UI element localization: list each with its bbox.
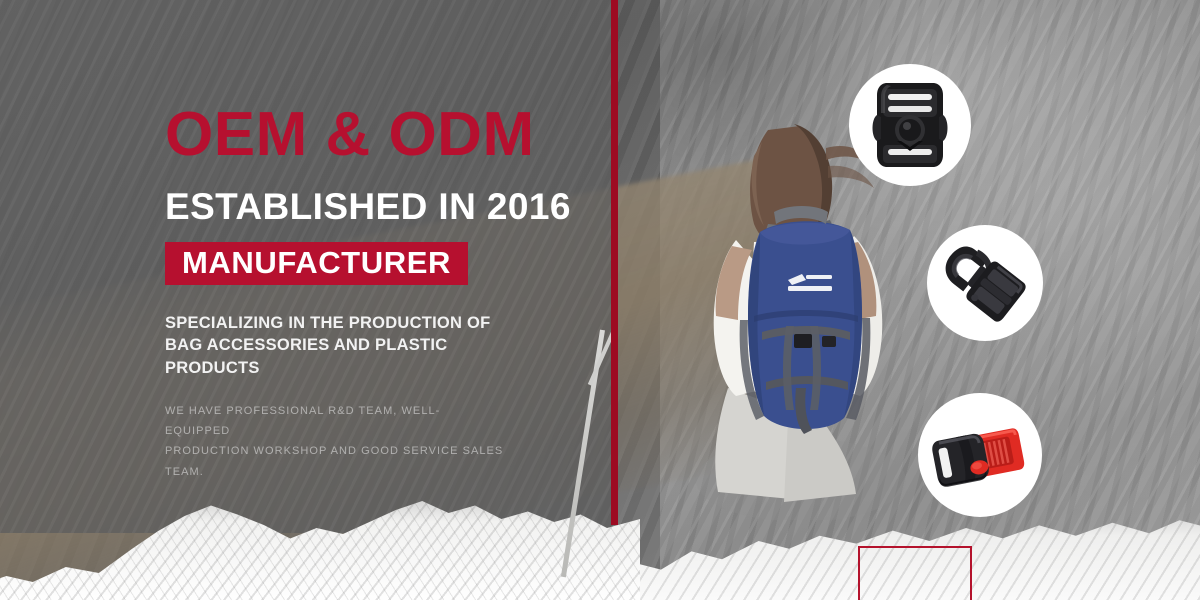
fineprint-line-2: PRODUCTION WORKSHOP AND GOOD SERVICE SAL…: [165, 445, 503, 477]
product-circle-side-release-buckle-black[interactable]: [849, 64, 971, 186]
side-release-buckle-red-black-icon: [930, 419, 1030, 491]
product-circle-snap-hook-clip-black[interactable]: [927, 225, 1043, 341]
fineprint-line-1: WE HAVE PROFESSIONAL R&D TEAM, WELL-EQUI…: [165, 405, 440, 437]
red-outline-box: [858, 546, 972, 600]
subheadline: ESTABLISHED IN 2016: [165, 188, 585, 225]
headline: OEM & ODM: [165, 104, 585, 166]
red-vertical-divider: [611, 0, 618, 525]
product-circle-side-release-buckle-red[interactable]: [918, 393, 1042, 517]
side-release-buckle-black-icon: [867, 75, 953, 175]
headline-text-block: OEM & ODM ESTABLISHED IN 2016 MANUFACTUR…: [165, 104, 585, 482]
promo-banner: OEM & ODM ESTABLISHED IN 2016 MANUFACTUR…: [0, 0, 1200, 600]
description-text: SPECIALIZING IN THE PRODUCTION OF BAG AC…: [165, 312, 495, 379]
snap-hook-clip-black-icon: [939, 237, 1031, 329]
manufacturer-badge: MANUFACTURER: [165, 242, 468, 285]
fineprint-text: WE HAVE PROFESSIONAL R&D TEAM, WELL-EQUI…: [165, 401, 505, 482]
